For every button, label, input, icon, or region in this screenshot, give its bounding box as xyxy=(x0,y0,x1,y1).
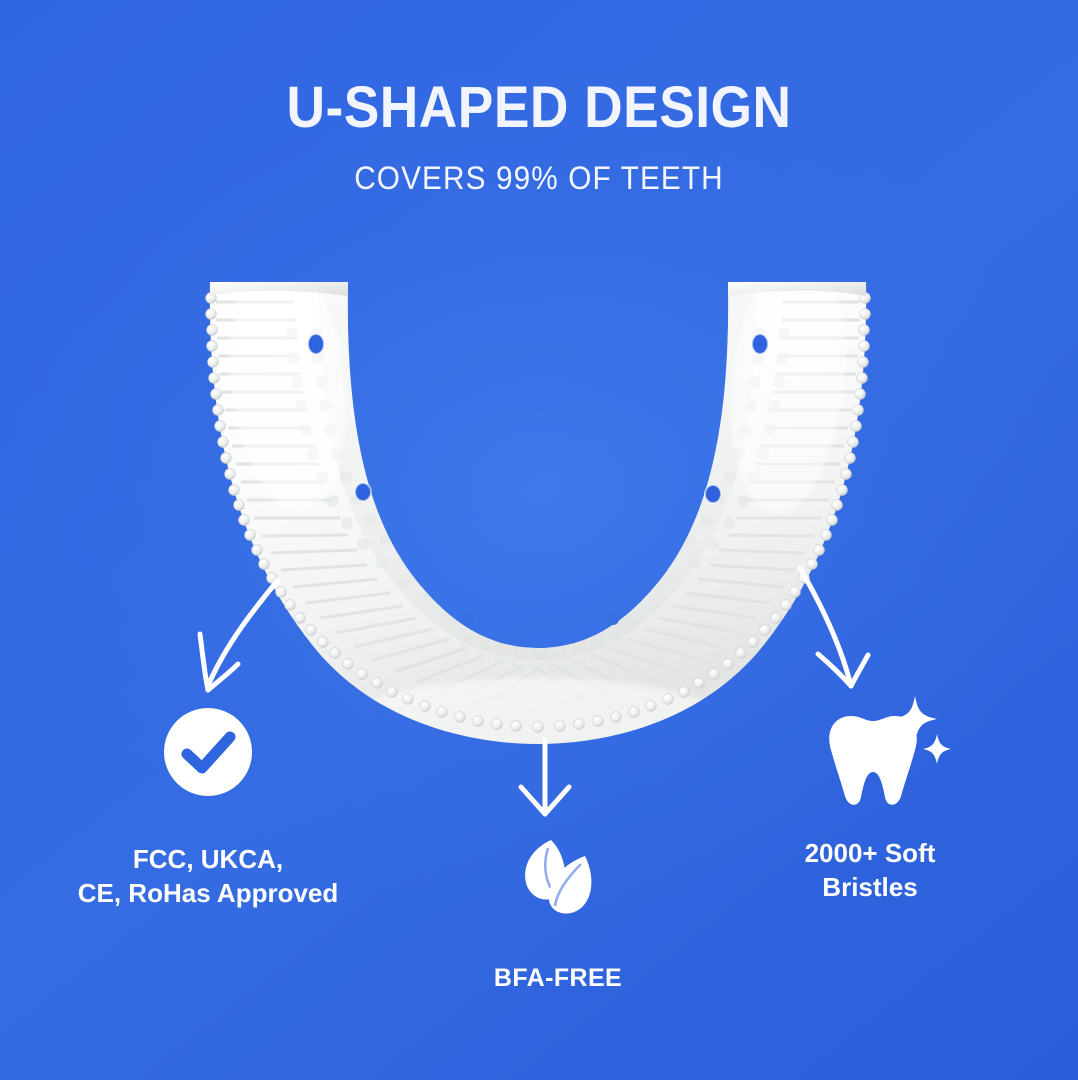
feature-certifications-caption: FCC, UKCA, CE, RoHas Approved xyxy=(28,842,388,911)
feature-certifications: FCC, UKCA, CE, RoHas Approved xyxy=(28,706,388,911)
feature-bfa-free-caption: BFA-FREE xyxy=(418,962,698,995)
page-subtitle: COVERS 99% OF TEETH xyxy=(38,160,1041,197)
page-title: U-SHAPED DESIGN xyxy=(43,78,1035,138)
feature-soft-bristles-caption: 2000+ Soft Bristles xyxy=(720,836,1020,905)
product-image xyxy=(168,262,908,752)
feature-bfa-free: BFA-FREE xyxy=(418,838,698,995)
product-infographic-poster: U-SHAPED DESIGN COVERS 99% OF TEETH xyxy=(0,0,1078,1080)
check-circle-icon xyxy=(28,706,388,798)
feature-soft-bristles: 2000+ Soft Bristles xyxy=(720,690,1020,905)
tooth-sparkle-icon xyxy=(720,690,1020,818)
header-block: U-SHAPED DESIGN COVERS 99% OF TEETH xyxy=(0,78,1078,197)
leaves-icon xyxy=(418,838,698,920)
